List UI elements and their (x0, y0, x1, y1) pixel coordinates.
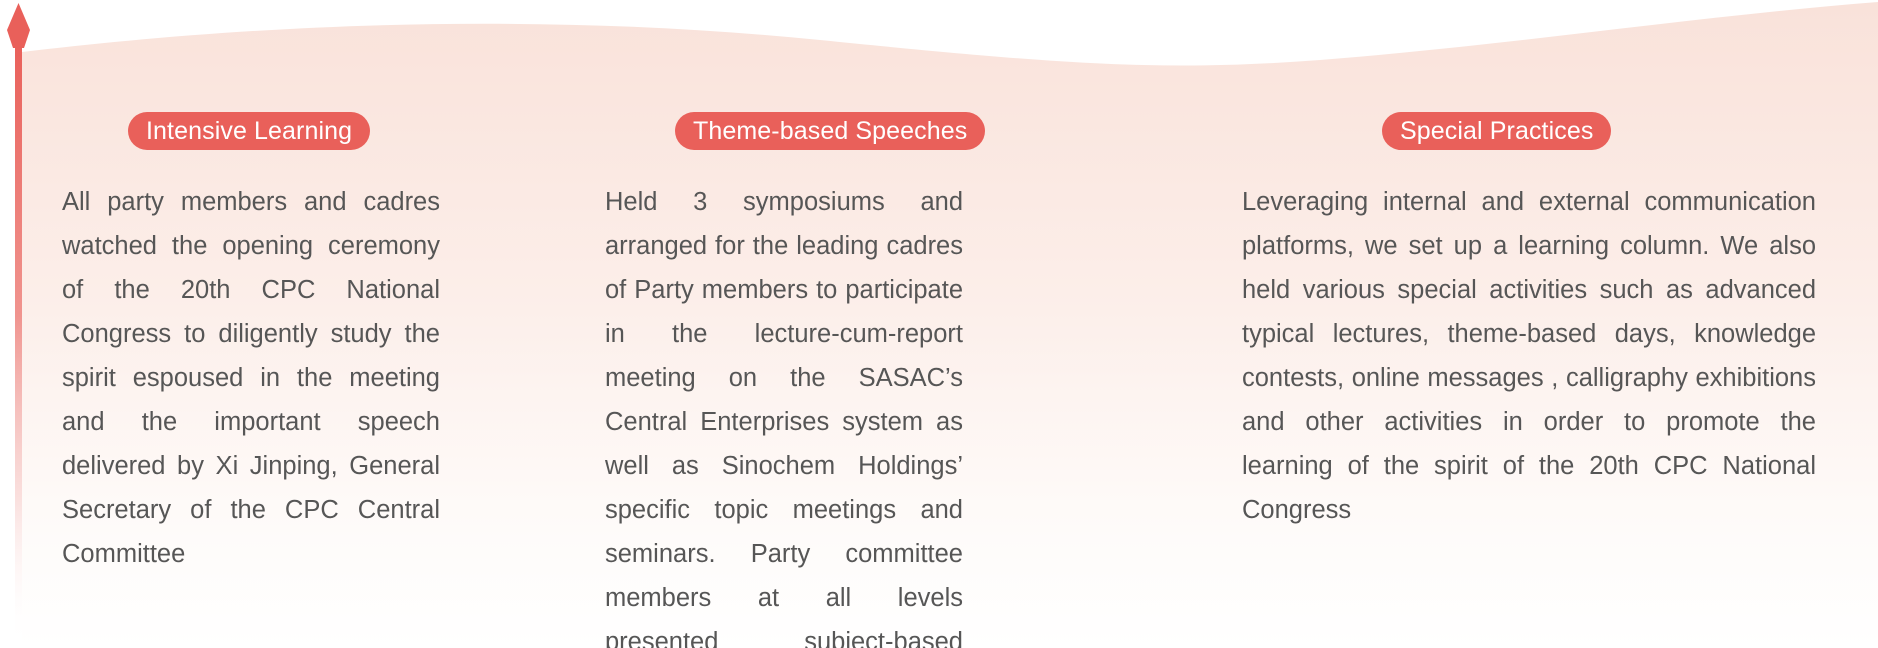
badge-theme-based-speeches[interactable]: Theme-based Speeches (675, 112, 985, 150)
paragraph: Held 3 symposiums and arranged for the l… (605, 180, 963, 648)
badge-intensive-learning[interactable]: Intensive Learning (128, 112, 370, 150)
paragraph: All party members and cadres watched the… (62, 180, 440, 576)
badge-special-practices[interactable]: Special Practices (1382, 112, 1611, 150)
body-text-intensive-learning: All party members and cadres watched the… (62, 180, 440, 576)
body-text-special-practices: Leveraging internal and external communi… (1242, 180, 1816, 532)
paragraph: Leveraging internal and external communi… (1242, 180, 1816, 532)
badge-row: Theme-based Speeches (675, 112, 963, 150)
body-text-theme-based-speeches: Held 3 symposiums and arranged for the l… (605, 180, 963, 648)
infographic-panel: Intensive Learning All party members and… (0, 0, 1878, 648)
column-group: Intensive Learning All party members and… (0, 0, 1878, 648)
column-theme-based-speeches: Theme-based Speeches Held 3 symposiums a… (605, 112, 963, 648)
column-intensive-learning: Intensive Learning All party members and… (62, 112, 440, 576)
column-special-practices: Special Practices Leveraging internal an… (1242, 112, 1816, 532)
badge-row: Special Practices (1382, 112, 1816, 150)
badge-row: Intensive Learning (128, 112, 440, 150)
